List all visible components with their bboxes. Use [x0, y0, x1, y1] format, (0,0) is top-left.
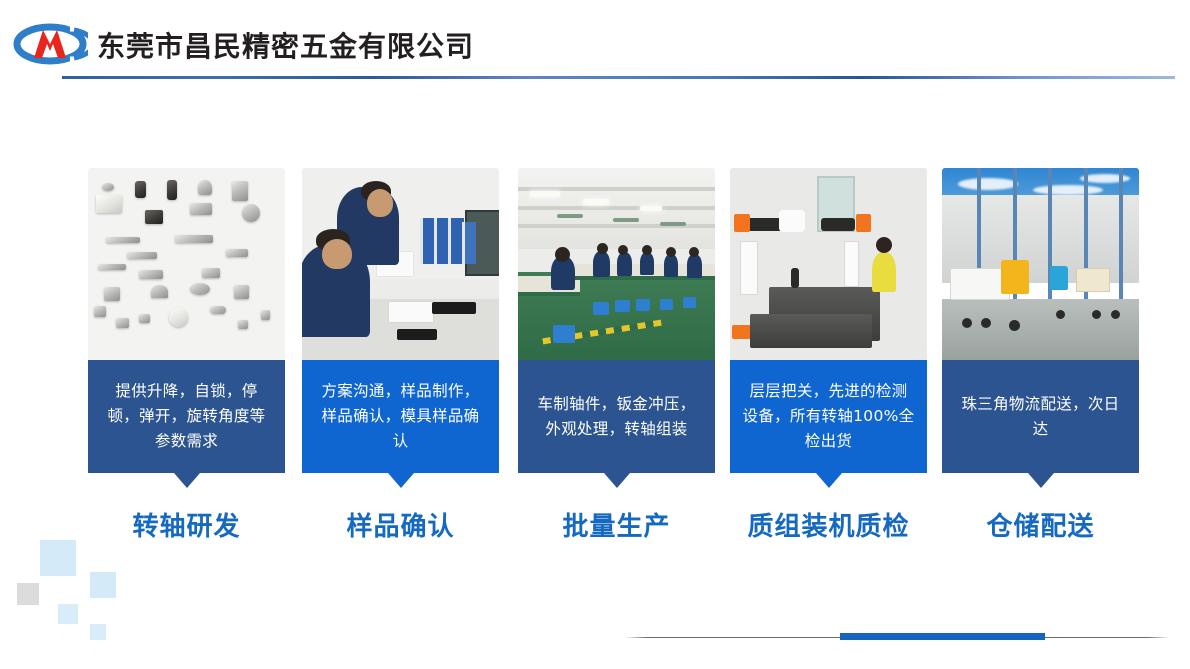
caption-pointer-icon: [388, 473, 414, 488]
process-card-3[interactable]: 车制轴件，钣金冲压，外观处理，转轴组装 批量生产: [518, 168, 715, 473]
card-caption-5: 珠三角物流配送，次日达: [942, 360, 1139, 473]
step-label-1: 转轴研发: [88, 506, 285, 543]
caption-pointer-icon: [1028, 473, 1054, 488]
decor-square-3: [90, 572, 116, 598]
step-label-2: 样品确认: [302, 506, 499, 543]
process-card-5[interactable]: 珠三角物流配送，次日达 仓储配送: [942, 168, 1139, 473]
process-card-1[interactable]: 提供升降，自锁，停顿，弹开，旋转角度等参数需求 转轴研发: [88, 168, 285, 473]
decorative-squares: [0, 0, 200, 160]
decor-square-2: [17, 583, 39, 605]
assembly-line-photo: [518, 168, 715, 360]
card-caption-1: 提供升降，自锁，停顿，弹开，旋转角度等参数需求: [88, 360, 285, 473]
card-caption-3: 车制轴件，钣金冲压，外观处理，转轴组装: [518, 360, 715, 473]
step-label-4: 质组装机质检: [700, 506, 957, 543]
logistics-trucks-photo: [942, 168, 1139, 360]
card-caption-text-2: 方案沟通，样品制作，样品确认，模具样品确认: [314, 379, 487, 454]
cmm-inspection-photo: [730, 168, 927, 360]
card-caption-4: 层层把关，先进的检测设备，所有转轴100%全检出货: [730, 360, 927, 473]
process-card-2[interactable]: 方案沟通，样品制作，样品确认，模具样品确认 样品确认: [302, 168, 499, 473]
step-label-3: 批量生产: [518, 506, 715, 543]
footer-accent-bar: [840, 633, 1045, 640]
decor-square-5: [90, 624, 106, 640]
slide-canvas: 东莞市昌民精密五金有限公司: [0, 0, 1190, 669]
card-caption-text-4: 层层把关，先进的检测设备，所有转轴100%全检出货: [742, 379, 915, 454]
decor-square-1: [40, 540, 76, 576]
card-caption-2: 方案沟通，样品制作，样品确认，模具样品确认: [302, 360, 499, 473]
decor-square-4: [58, 604, 78, 624]
process-card-4[interactable]: 层层把关，先进的检测设备，所有转轴100%全检出货 质组装机质检: [730, 168, 927, 473]
card-caption-text-3: 车制轴件，钣金冲压，外观处理，转轴组装: [530, 392, 703, 442]
card-caption-text-1: 提供升降，自锁，停顿，弹开，旋转角度等参数需求: [100, 379, 273, 454]
step-label-5: 仓储配送: [942, 506, 1139, 543]
caption-pointer-icon: [604, 473, 630, 488]
caption-pointer-icon: [174, 473, 200, 488]
caption-pointer-icon: [816, 473, 842, 488]
card-caption-text-5: 珠三角物流配送，次日达: [954, 392, 1127, 442]
engineers-office-photo: [302, 168, 499, 360]
hinge-parts-photo: [88, 168, 285, 360]
